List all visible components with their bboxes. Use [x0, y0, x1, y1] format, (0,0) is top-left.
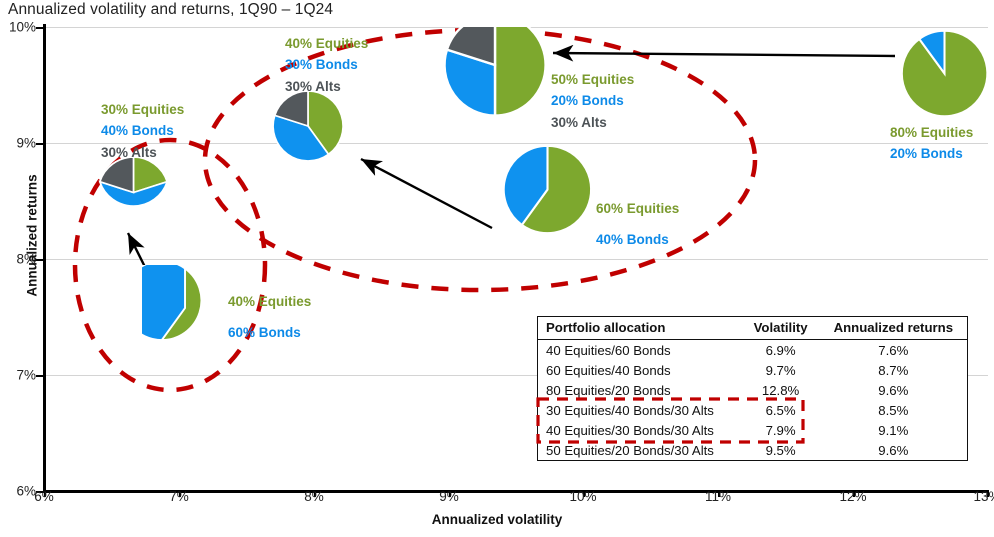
- table-cell-volatility: 9.7%: [742, 360, 818, 380]
- table-cell-allocation: 80 Equities/20 Bonds: [538, 380, 742, 400]
- x-tick-label-9: 9%: [439, 489, 459, 504]
- pie-label-equities: 80% Equities: [890, 122, 973, 143]
- y-tickmark: [36, 375, 44, 377]
- gridline-8pct: [44, 259, 988, 260]
- table-row: 40 Equities/60 Bonds 6.9% 7.6%: [538, 340, 967, 361]
- pie-label-30-40-30: 30% Equities 40% Bonds 30% Alts: [101, 99, 184, 163]
- x-axis-title: Annualized volatility: [0, 512, 994, 527]
- x-tick-label-12: 12%: [839, 489, 866, 504]
- pie-chart-60-40: [500, 142, 595, 237]
- table-cell-allocation: 60 Equities/40 Bonds: [538, 360, 742, 380]
- pie-chart-80-20: [898, 27, 991, 120]
- table-row: 50 Equities/20 Bonds/30 Alts 9.5% 9.6%: [538, 440, 967, 460]
- y-tick-text: 7%: [16, 368, 36, 383]
- x-tick-label-13: 13%: [973, 489, 994, 504]
- y-tick-text: 6%: [16, 484, 36, 499]
- table-cell-allocation: 30 Equities/40 Bonds/30 Alts: [538, 400, 742, 420]
- pie-label-equities: 40% Equities: [285, 33, 368, 54]
- table-header-volatility: Volatility: [742, 317, 818, 340]
- pie-label-50-20-30: 50% Equities 20% Bonds 30% Alts: [551, 69, 634, 133]
- y-tick-text: 9%: [16, 136, 36, 151]
- arrow-80-20-to-50-20-30: [553, 53, 895, 56]
- pie-chart-40-60: [142, 265, 228, 351]
- pie-label-bonds: 40% Bonds: [101, 120, 184, 141]
- y-tickmark: [36, 27, 44, 29]
- table-cell-returns: 8.7%: [818, 360, 967, 380]
- pie-marker-60-40[interactable]: [500, 142, 595, 237]
- pie-label-bonds: 20% Bonds: [890, 143, 973, 164]
- pie-chart-50-20-30: [440, 27, 550, 120]
- table-row-highlighted: 40 Equities/30 Bonds/30 Alts 7.9% 9.1%: [538, 420, 967, 440]
- pie-chart-40-30-30: [270, 88, 346, 164]
- table-cell-returns: 9.6%: [818, 380, 967, 400]
- chart-title: Annualized volatility and returns, 1Q90 …: [8, 1, 333, 19]
- table-row: 60 Equities/40 Bonds 9.7% 8.7%: [538, 360, 967, 380]
- pie-label-equities: 60% Equities: [596, 198, 679, 219]
- pie-label-bonds: 20% Bonds: [551, 90, 634, 111]
- pie-label-equities: 30% Equities: [101, 99, 184, 120]
- x-tick-label-10: 10%: [569, 489, 596, 504]
- pie-label-40-30-30: 40% Equities 30% Bonds 30% Alts: [285, 33, 368, 97]
- table-cell-returns: 9.6%: [818, 440, 967, 460]
- pie-label-60-40: 60% Equities 40% Bonds: [596, 198, 679, 251]
- pie-chart-30-40-30: [95, 154, 172, 231]
- table-cell-volatility: 6.9%: [742, 340, 818, 361]
- table-cell-returns: 8.5%: [818, 400, 967, 420]
- pie-marker-40-30-30[interactable]: [270, 88, 346, 164]
- y-axis-title: Annualized returns: [25, 156, 40, 316]
- pie-label-bonds: 40% Bonds: [596, 229, 679, 250]
- table-cell-volatility: 7.9%: [742, 420, 818, 440]
- y-tickmark: [36, 143, 44, 145]
- table-cell-volatility: 9.5%: [742, 440, 818, 460]
- x-tick-label-8: 8%: [304, 489, 324, 504]
- table-cell-volatility: 12.8%: [742, 380, 818, 400]
- pie-label-alts: 30% Alts: [551, 112, 634, 133]
- arrow-60-40-to-40-30-30: [361, 159, 492, 228]
- pie-marker-80-20[interactable]: [898, 27, 991, 120]
- y-tick-text: 10%: [9, 20, 36, 35]
- x-tick-label-6: 6%: [34, 489, 54, 504]
- table-header-row: Portfolio allocation Volatility Annualiz…: [538, 317, 967, 340]
- pie-label-bonds: 60% Bonds: [228, 322, 311, 343]
- table-cell-allocation: 40 Equities/60 Bonds: [538, 340, 742, 361]
- pie-label-equities: 40% Equities: [228, 291, 311, 312]
- pie-marker-30-40-30[interactable]: [95, 154, 172, 231]
- table-row-highlighted: 30 Equities/40 Bonds/30 Alts 6.5% 8.5%: [538, 400, 967, 420]
- table-cell-returns: 7.6%: [818, 340, 967, 361]
- table-cell-allocation: 40 Equities/30 Bonds/30 Alts: [538, 420, 742, 440]
- pie-label-alts: 30% Alts: [101, 142, 184, 163]
- x-tick-label-7: 7%: [169, 489, 189, 504]
- pie-marker-40-60[interactable]: [142, 265, 228, 351]
- pie-label-equities: 50% Equities: [551, 69, 634, 90]
- table-header-returns: Annualized returns: [818, 317, 967, 340]
- table-cell-allocation: 50 Equities/20 Bonds/30 Alts: [538, 440, 742, 460]
- table-cell-volatility: 6.5%: [742, 400, 818, 420]
- table-header-allocation: Portfolio allocation: [538, 317, 742, 340]
- portfolio-allocation-table: Portfolio allocation Volatility Annualiz…: [537, 316, 968, 461]
- pie-label-80-20: 80% Equities 20% Bonds: [890, 122, 973, 165]
- pie-label-bonds: 30% Bonds: [285, 54, 368, 75]
- pie-label-40-60: 40% Equities 60% Bonds: [228, 291, 311, 344]
- chart-root: Annualized volatility and returns, 1Q90 …: [0, 0, 994, 537]
- pie-label-alts: 30% Alts: [285, 76, 368, 97]
- table-row: 80 Equities/20 Bonds 12.8% 9.6%: [538, 380, 967, 400]
- table-cell-returns: 9.1%: [818, 420, 967, 440]
- pie-marker-50-20-30[interactable]: [440, 27, 550, 120]
- x-tick-label-11: 11%: [705, 489, 731, 504]
